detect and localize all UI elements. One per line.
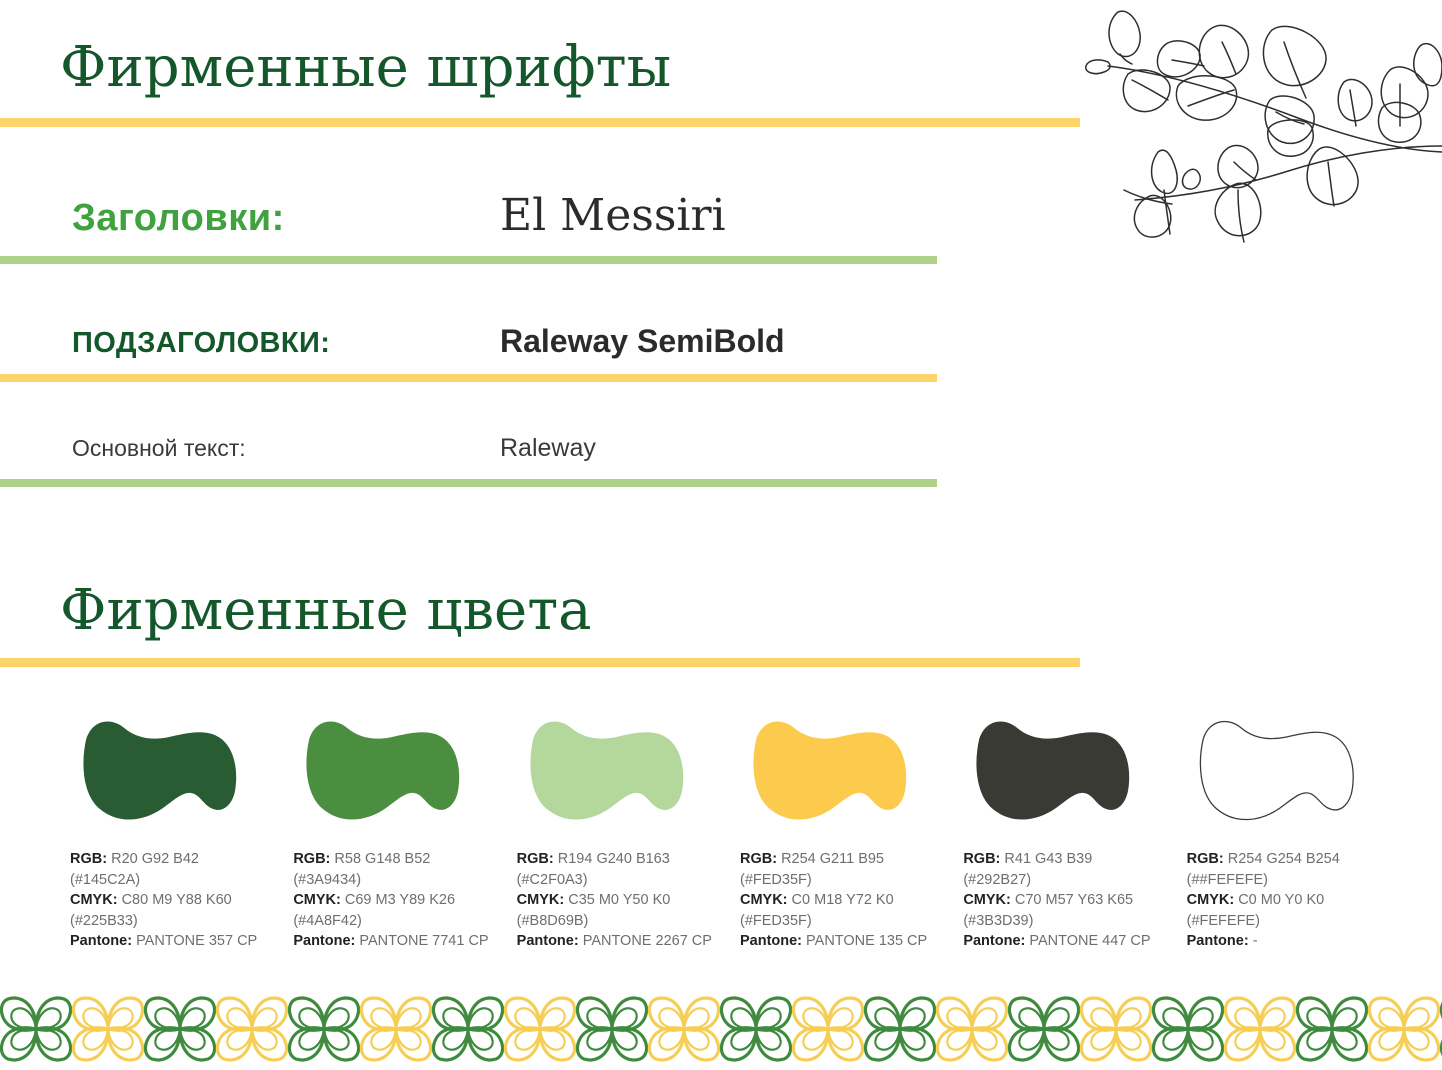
font-row-headings: Заголовки: El Messiri (0, 190, 937, 241)
color-blob-icon (515, 705, 697, 835)
spec-line: (#225B33) (70, 911, 273, 932)
ornament-motif (361, 998, 430, 1060)
ornament-motif (865, 998, 934, 1060)
ornament-motif (1, 998, 70, 1060)
color-blob-icon (1185, 705, 1367, 835)
color-specs: RGB: R58 G148 B52(#3A9434)CMYK: C69 M3 Y… (293, 849, 496, 952)
botanical-branch-icon (1080, 0, 1442, 250)
spec-value-rgb: R20 G92 B42 (111, 851, 199, 867)
ornament-motif (1081, 998, 1150, 1060)
spec-value-rgb-hex: (#FED35F) (740, 872, 812, 888)
floral-ornament-band-icon (0, 993, 1442, 1065)
spec-key-rgb: RGB: (963, 851, 1004, 867)
font-row-sample: El Messiri (500, 190, 726, 241)
ornament-motif (577, 998, 646, 1060)
spec-value-pantone: - (1253, 933, 1258, 949)
color-swatch: RGB: R41 G43 B39(#292B27)CMYK: C70 M57 Y… (955, 705, 1178, 952)
divider-row-1 (0, 256, 937, 264)
spec-line: CMYK: C35 M0 Y50 K0 (517, 890, 720, 911)
spec-line: (#FED35F) (740, 911, 943, 932)
spec-key-pantone: Pantone: (70, 933, 136, 949)
spec-line: CMYK: C0 M0 Y0 K0 (1187, 890, 1390, 911)
color-specs: RGB: R41 G43 B39(#292B27)CMYK: C70 M57 Y… (963, 849, 1166, 952)
spec-key-cmyk: CMYK: (293, 892, 345, 908)
spec-line: RGB: R58 G148 B52 (293, 849, 496, 870)
font-row-body-text: Основной текст: Raleway (0, 434, 937, 463)
spec-value-rgb-hex: (#292B27) (963, 872, 1031, 888)
color-swatch: RGB: R254 G254 B254(##FEFEFE)CMYK: C0 M0… (1179, 705, 1402, 952)
spec-key-cmyk: CMYK: (70, 892, 122, 908)
spec-line: CMYK: C69 M3 Y89 K26 (293, 890, 496, 911)
spec-value-rgb: R254 G211 B95 (781, 851, 884, 867)
spec-key-cmyk: CMYK: (740, 892, 792, 908)
font-row-label: Основной текст: (0, 435, 500, 462)
spec-line: (#FED35F) (740, 870, 943, 891)
spec-value-rgb: R58 G148 B52 (334, 851, 430, 867)
spec-value-cmyk: C69 M3 Y89 K26 (345, 892, 455, 908)
spec-line: (#C2F0A3) (517, 870, 720, 891)
spec-key-cmyk: CMYK: (517, 892, 569, 908)
spec-key-pantone: Pantone: (293, 933, 359, 949)
spec-line: Pantone: PANTONE 7741 CP (293, 931, 496, 952)
font-row-subheadings: ПОДЗАГОЛОВКИ: Raleway SemiBold (0, 323, 937, 360)
color-specs: RGB: R254 G254 B254(##FEFEFE)CMYK: C0 M0… (1187, 849, 1390, 952)
spec-line: (##FEFEFE) (1187, 870, 1390, 891)
color-swatch-list: RGB: R20 G92 B42(#145C2A)CMYK: C80 M9 Y8… (62, 705, 1402, 952)
color-specs: RGB: R254 G211 B95(#FED35F)CMYK: C0 M18 … (740, 849, 943, 952)
spec-key-rgb: RGB: (517, 851, 558, 867)
spec-line: Pantone: PANTONE 135 CP (740, 931, 943, 952)
spec-key-rgb: RGB: (70, 851, 111, 867)
spec-key-rgb: RGB: (293, 851, 334, 867)
spec-line: (#FEFEFE) (1187, 911, 1390, 932)
divider-colors-title (0, 658, 1080, 667)
ornament-motif (1153, 998, 1222, 1060)
spec-key-pantone: Pantone: (963, 933, 1029, 949)
font-row-sample: Raleway (500, 434, 596, 463)
ornament-motif (1297, 998, 1366, 1060)
ornament-motif (217, 998, 286, 1060)
spec-key-pantone: Pantone: (1187, 933, 1253, 949)
spec-value-pantone: PANTONE 135 CP (806, 933, 927, 949)
ornament-motif (649, 998, 718, 1060)
ornament-motif (73, 998, 142, 1060)
color-blob-icon (738, 705, 920, 835)
spec-line: RGB: R254 G211 B95 (740, 849, 943, 870)
spec-line: (#3A9434) (293, 870, 496, 891)
spec-value-rgb-hex: (#C2F0A3) (517, 872, 588, 888)
ornament-motif (433, 998, 502, 1060)
spec-line: CMYK: C0 M18 Y72 K0 (740, 890, 943, 911)
spec-value-cmyk: C70 M57 Y63 K65 (1015, 892, 1133, 908)
color-swatch: RGB: R254 G211 B95(#FED35F)CMYK: C0 M18 … (732, 705, 955, 952)
spec-value-cmyk: C35 M0 Y50 K0 (568, 892, 670, 908)
ornament-motif (1369, 998, 1438, 1060)
ornament-motif (1009, 998, 1078, 1060)
page-title-colors: Фирменные цвета (60, 583, 592, 639)
ornament-motif (721, 998, 790, 1060)
spec-line: RGB: R41 G43 B39 (963, 849, 1166, 870)
page-title-fonts: Фирменные шрифты (60, 40, 671, 96)
ornament-motif (1225, 998, 1294, 1060)
spec-value-cmyk: C0 M18 Y72 K0 (792, 892, 894, 908)
spec-line: CMYK: C70 M57 Y63 K65 (963, 890, 1166, 911)
spec-line: Pantone: PANTONE 2267 CP (517, 931, 720, 952)
color-blob-icon (961, 705, 1143, 835)
spec-value-rgb-hex: (#145C2A) (70, 872, 140, 888)
spec-value-cmyk-hex: (#225B33) (70, 913, 138, 929)
spec-line: (#145C2A) (70, 870, 273, 891)
spec-value-rgb-hex: (##FEFEFE) (1187, 872, 1268, 888)
spec-value-cmyk-hex: (#FEFEFE) (1187, 913, 1260, 929)
spec-value-rgb: R254 G254 B254 (1228, 851, 1340, 867)
spec-value-rgb-hex: (#3A9434) (293, 872, 361, 888)
spec-line: Pantone: PANTONE 357 CP (70, 931, 273, 952)
color-blob-icon (291, 705, 473, 835)
spec-value-cmyk-hex: (#4A8F42) (293, 913, 362, 929)
spec-line: (#3B3D39) (963, 911, 1166, 932)
spec-line: CMYK: C80 M9 Y88 K60 (70, 890, 273, 911)
font-row-label: ПОДЗАГОЛОВКИ: (0, 327, 500, 360)
spec-key-rgb: RGB: (740, 851, 781, 867)
color-blob-icon (68, 705, 250, 835)
spec-key-cmyk: CMYK: (1187, 892, 1239, 908)
spec-line: RGB: R254 G254 B254 (1187, 849, 1390, 870)
spec-value-cmyk: C80 M9 Y88 K60 (122, 892, 232, 908)
spec-key-pantone: Pantone: (517, 933, 583, 949)
spec-value-cmyk-hex: (#FED35F) (740, 913, 812, 929)
font-row-sample: Raleway SemiBold (500, 323, 785, 360)
spec-value-pantone: PANTONE 447 CP (1029, 933, 1150, 949)
spec-line: Pantone: - (1187, 931, 1390, 952)
spec-value-rgb: R194 G240 B163 (558, 851, 670, 867)
divider-row-2 (0, 374, 937, 382)
spec-value-pantone: PANTONE 2267 CP (583, 933, 712, 949)
ornament-motif (145, 998, 214, 1060)
divider-fonts-title (0, 118, 1080, 127)
spec-value-pantone: PANTONE 7741 CP (359, 933, 488, 949)
spec-line: (#B8D69B) (517, 911, 720, 932)
spec-line: (#4A8F42) (293, 911, 496, 932)
spec-value-cmyk: C0 M0 Y0 K0 (1238, 892, 1324, 908)
divider-row-3 (0, 479, 937, 487)
ornament-motif (937, 998, 1006, 1060)
color-specs: RGB: R194 G240 B163(#C2F0A3)CMYK: C35 M0… (517, 849, 720, 952)
spec-line: (#292B27) (963, 870, 1166, 891)
font-row-label: Заголовки: (0, 197, 500, 240)
spec-value-pantone: PANTONE 357 CP (136, 933, 257, 949)
spec-key-cmyk: CMYK: (963, 892, 1015, 908)
ornament-motif (289, 998, 358, 1060)
spec-key-pantone: Pantone: (740, 933, 806, 949)
spec-line: Pantone: PANTONE 447 CP (963, 931, 1166, 952)
ornament-motif (505, 998, 574, 1060)
color-swatch: RGB: R58 G148 B52(#3A9434)CMYK: C69 M3 Y… (285, 705, 508, 952)
spec-value-cmyk-hex: (#B8D69B) (517, 913, 589, 929)
spec-key-rgb: RGB: (1187, 851, 1228, 867)
color-swatch: RGB: R20 G92 B42(#145C2A)CMYK: C80 M9 Y8… (62, 705, 285, 952)
spec-line: RGB: R20 G92 B42 (70, 849, 273, 870)
ornament-motif (793, 998, 862, 1060)
color-swatch: RGB: R194 G240 B163(#C2F0A3)CMYK: C35 M0… (509, 705, 732, 952)
spec-value-rgb: R41 G43 B39 (1004, 851, 1092, 867)
color-specs: RGB: R20 G92 B42(#145C2A)CMYK: C80 M9 Y8… (70, 849, 273, 952)
spec-line: RGB: R194 G240 B163 (517, 849, 720, 870)
spec-value-cmyk-hex: (#3B3D39) (963, 913, 1033, 929)
